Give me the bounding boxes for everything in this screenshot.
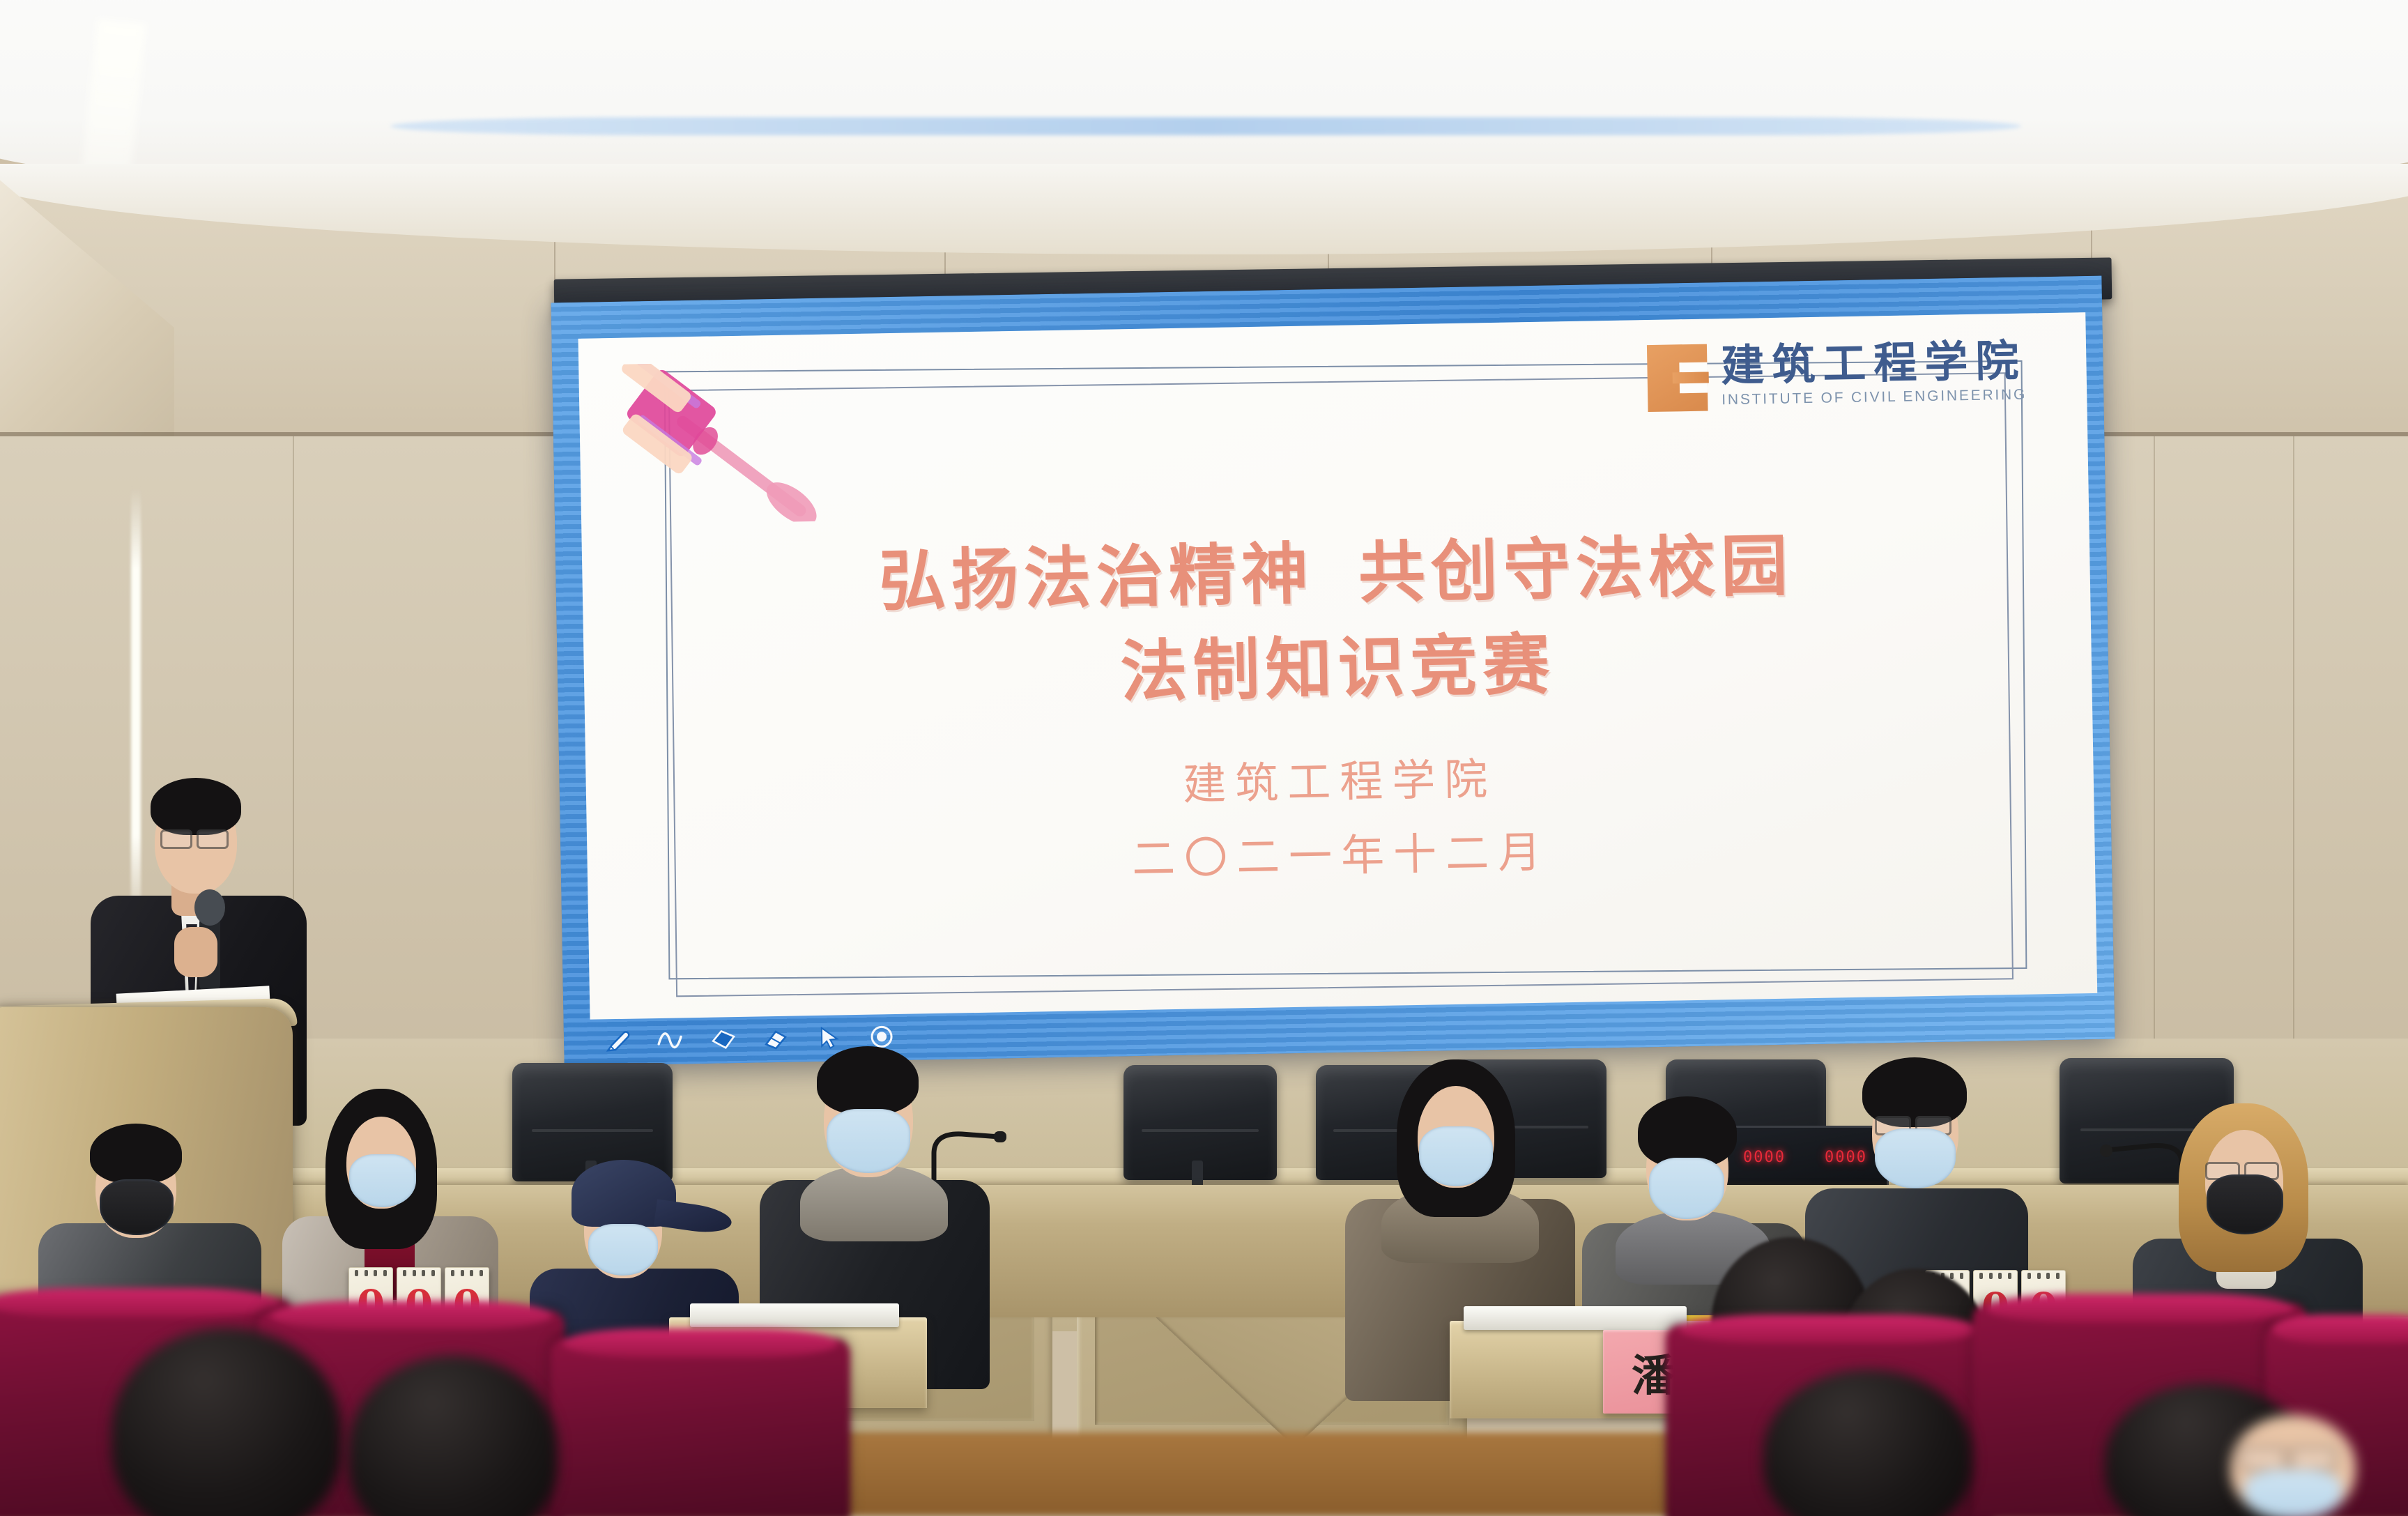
projection-screen[interactable]: 建筑工程学院 INSTITUTE OF CIVIL ENGINEERING 弘扬… [551,276,2115,1066]
face-mask-icon [349,1154,416,1207]
host-hand [174,927,217,977]
audience-seat [551,1338,850,1516]
host-glasses [160,829,192,849]
host-hair [151,778,241,835]
gavel-icon [615,361,827,525]
shape-icon[interactable] [709,1025,737,1054]
presentation-slide: 建筑工程学院 INSTITUTE OF CIVIL ENGINEERING 弘扬… [578,312,2098,1020]
face-mask-icon [1649,1158,1724,1219]
desk-nameplate-tray-right [1464,1306,1687,1330]
audience-member-foreground [2216,1408,2408,1516]
face-mask-icon [2207,1174,2283,1234]
contestant-hair [817,1046,919,1115]
contestant-hair [1638,1096,1737,1167]
desk-nameplate-tray-left [690,1303,899,1327]
title-part-1: 弘扬法治精神 [878,535,1314,620]
slide-text-block: 弘扬法治精神共创守法校园 法制知识竞赛 建筑工程学院 二〇二一年十二月 [582,513,2096,904]
pen-icon[interactable] [603,1027,631,1056]
host-glasses [197,829,229,849]
ceiling-cove-light [390,117,2021,135]
face-mask-icon [1875,1128,1956,1188]
title-part-2: 共创守法校园 [1358,526,1794,612]
contestant-hair [90,1124,182,1184]
cap-brim [654,1200,733,1236]
face-mask-icon [1419,1126,1493,1186]
slide-logo: 建筑工程学院 INSTITUTE OF CIVIL ENGINEERING [1647,339,2027,412]
face-mask-icon [827,1109,910,1173]
face-mask-icon [588,1224,658,1276]
institute-logo-mark [1647,344,1708,412]
logo-name-cn: 建筑工程学院 [1721,339,2027,389]
curve-icon[interactable] [656,1026,684,1055]
face-mask-icon [100,1179,174,1235]
auditorium-photo: 建筑工程学院 INSTITUTE OF CIVIL ENGINEERING 弘扬… [0,0,2408,1516]
